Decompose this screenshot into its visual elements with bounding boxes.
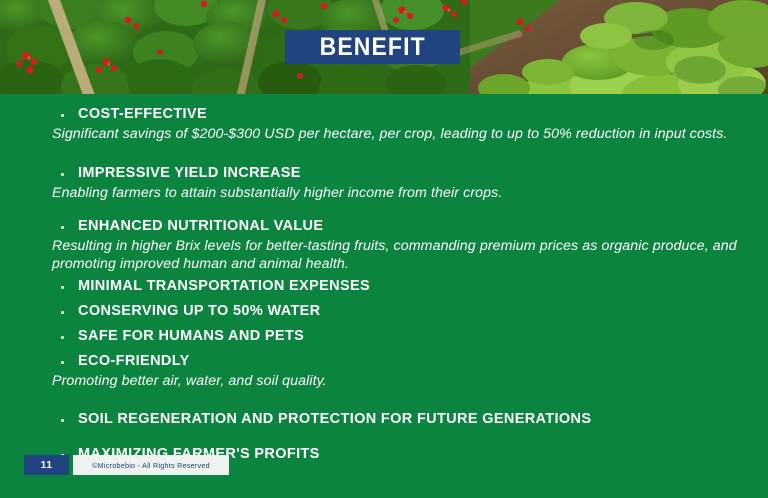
bullet-dot-icon	[61, 226, 64, 229]
footer: 11 ©Microbebio - All Rights Reserved	[24, 455, 229, 475]
benefit-description: Significant savings of $200-$300 USD per…	[0, 126, 768, 144]
bullet-heading: ENHANCED NUTRITIONAL VALUE	[0, 218, 768, 234]
benefit-item-impressive-yield-increase: IMPRESSIVE YIELD INCREASE Enabling farme…	[0, 165, 768, 203]
benefit-heading-text: MINIMAL TRANSPORTATION EXPENSES	[78, 278, 370, 294]
slide-root: BENEFIT COST-EFFECTIVE Significant savin…	[0, 0, 768, 498]
bullet-dot-icon	[61, 286, 64, 289]
benefit-heading-text: COST-EFFECTIVE	[78, 106, 207, 122]
benefit-item-cost-effective: COST-EFFECTIVE Significant savings of $2…	[0, 106, 768, 144]
bullet-heading: SAFE FOR HUMANS AND PETS	[0, 328, 768, 344]
bullet-heading: CONSERVING UP TO 50% WATER	[0, 303, 768, 319]
bullet-heading: SOIL REGENERATION AND PROTECTION FOR FUT…	[0, 411, 768, 427]
content-body: COST-EFFECTIVE Significant savings of $2…	[0, 98, 768, 498]
bullet-dot-icon	[61, 114, 64, 117]
benefit-item-conserving-water: CONSERVING UP TO 50% WATER	[0, 303, 768, 319]
benefit-description: Promoting better air, water, and soil qu…	[0, 373, 768, 391]
benefit-heading-text: CONSERVING UP TO 50% WATER	[78, 303, 321, 319]
bullet-heading: ECO-FRIENDLY	[0, 353, 768, 369]
benefit-item-soil-regeneration: SOIL REGENERATION AND PROTECTION FOR FUT…	[0, 411, 768, 427]
title-banner: BENEFIT	[285, 30, 460, 64]
bullet-dot-icon	[61, 419, 64, 422]
benefit-item-safe-for-humans-and-pets: SAFE FOR HUMANS AND PETS	[0, 328, 768, 344]
benefit-heading-text: ENHANCED NUTRITIONAL VALUE	[78, 218, 323, 234]
bullet-dot-icon	[61, 173, 64, 176]
copyright-bar: ©Microbebio - All Rights Reserved	[73, 455, 229, 475]
benefit-description: Enabling farmers to attain substantially…	[0, 185, 768, 203]
bullet-heading: COST-EFFECTIVE	[0, 106, 768, 122]
benefit-description: Resulting in higher Brix levels for bett…	[0, 238, 768, 274]
bullet-heading: IMPRESSIVE YIELD INCREASE	[0, 165, 768, 181]
benefit-heading-text: SOIL REGENERATION AND PROTECTION FOR FUT…	[78, 411, 591, 427]
benefit-heading-text: IMPRESSIVE YIELD INCREASE	[78, 165, 301, 181]
benefit-item-minimal-transportation-expenses: MINIMAL TRANSPORTATION EXPENSES	[0, 278, 768, 294]
bullet-dot-icon	[61, 336, 64, 339]
benefit-item-enhanced-nutritional-value: ENHANCED NUTRITIONAL VALUE Resulting in …	[0, 218, 768, 274]
benefit-item-eco-friendly: ECO-FRIENDLY Promoting better air, water…	[0, 353, 768, 391]
benefit-heading-text: SAFE FOR HUMANS AND PETS	[78, 328, 304, 344]
page-number-badge: 11	[24, 455, 69, 475]
bullet-dot-icon	[61, 311, 64, 314]
benefit-heading-text: ECO-FRIENDLY	[78, 353, 190, 369]
bullet-dot-icon	[61, 361, 64, 364]
page-title: BENEFIT	[319, 35, 425, 60]
bullet-heading: MINIMAL TRANSPORTATION EXPENSES	[0, 278, 768, 294]
